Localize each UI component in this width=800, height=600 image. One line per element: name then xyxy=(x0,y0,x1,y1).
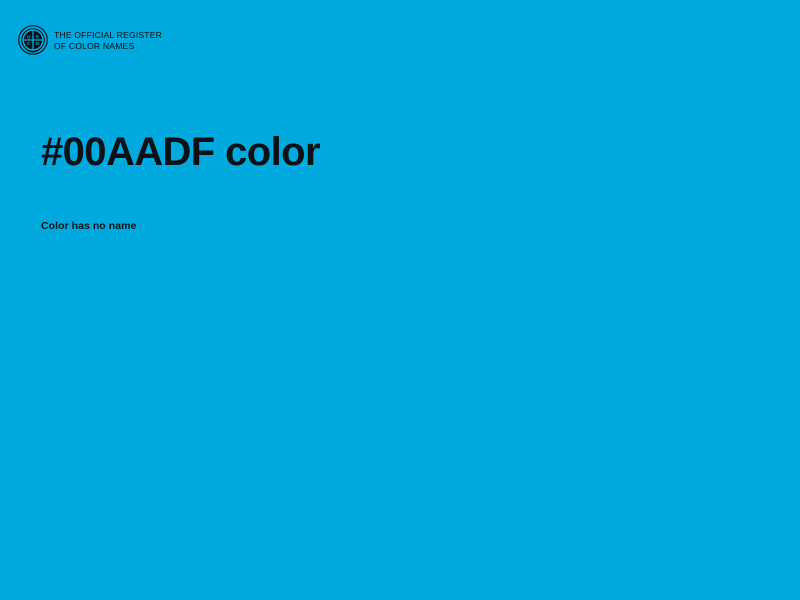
svg-text:O: O xyxy=(27,34,31,40)
page-root: O R C N THE OFFICIAL REGISTER OF COLOR N… xyxy=(0,0,800,600)
svg-text:N: N xyxy=(36,41,40,47)
brand-line-1: THE OFFICIAL REGISTER xyxy=(54,30,162,41)
site-brand[interactable]: O R C N THE OFFICIAL REGISTER OF COLOR N… xyxy=(18,25,162,55)
color-info: #00AADF color Color has no name xyxy=(41,126,761,233)
svg-text:R: R xyxy=(36,34,40,40)
brand-wordmark: THE OFFICIAL REGISTER OF COLOR NAMES xyxy=(54,29,162,51)
svg-text:C: C xyxy=(27,41,31,47)
brand-line-2: OF COLOR NAMES xyxy=(54,41,162,52)
color-name-status: Color has no name xyxy=(41,178,761,233)
register-seal-icon: O R C N xyxy=(18,25,48,55)
page-title: #00AADF color xyxy=(41,126,761,178)
